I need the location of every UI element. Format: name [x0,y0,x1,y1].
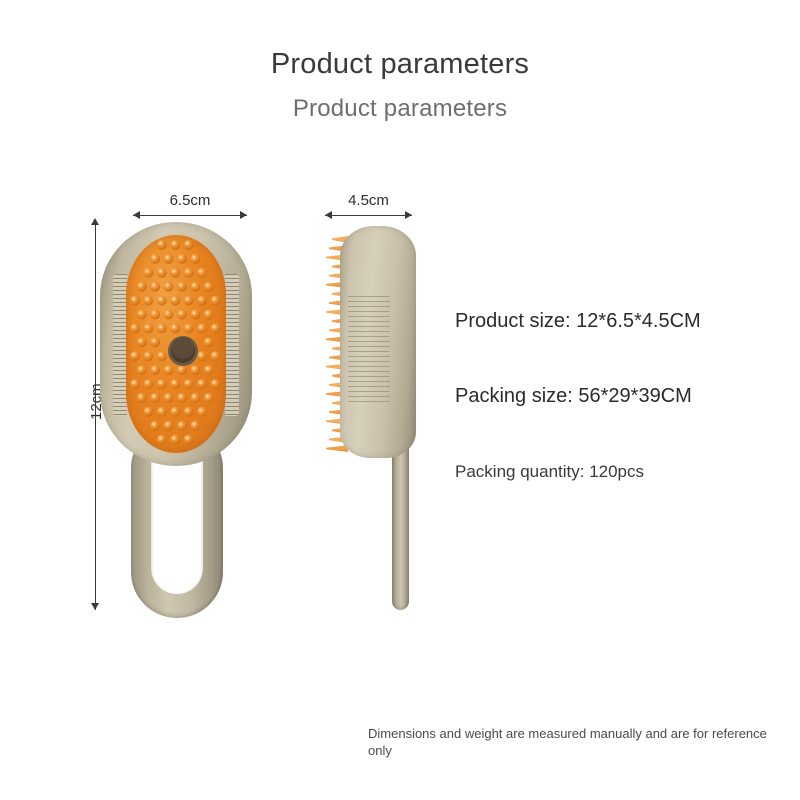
arrow-left-icon [325,211,332,219]
dimension-width-front-label: 6.5cm [133,192,247,209]
spec-product-size: Product size: 12*6.5*4.5CM [455,310,701,333]
disclaimer-note: Dimensions and weight are measured manua… [368,725,778,759]
page-subtitle: Product parameters [0,95,800,123]
dimension-width-side-line [325,215,412,216]
front-silicone-pad [126,235,226,453]
product-side-view [318,226,422,616]
arrow-up-icon [91,218,99,225]
arrow-down-icon [91,603,99,610]
spec-packing-size: Packing size: 56*29*39CM [455,385,692,408]
arrow-right-icon [405,211,412,219]
side-ridge-lines [348,296,390,402]
center-hole [126,235,226,453]
product-front-view [100,222,252,618]
dimension-width-side-label: 4.5cm [325,192,412,209]
arrow-right-icon [240,211,247,219]
dimension-width-front-line [133,215,247,216]
comb-teeth-right [225,274,239,416]
product-parameters-infographic: Product parameters Product parameters 6.… [0,0,800,800]
page-title: Product parameters [0,48,800,81]
arrow-left-icon [133,211,140,219]
spec-packing-quantity: Packing quantity: 120pcs [455,462,644,482]
comb-teeth-left [113,274,127,416]
